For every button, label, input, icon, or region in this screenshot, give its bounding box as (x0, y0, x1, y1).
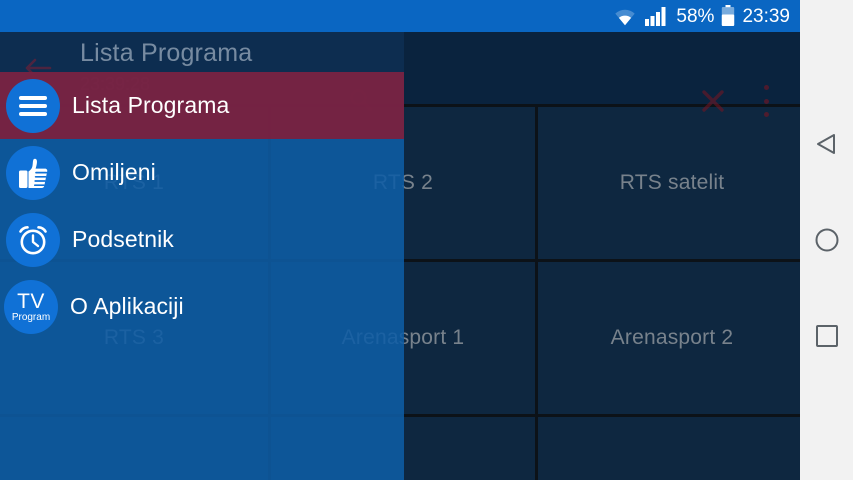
close-x-icon[interactable] (700, 88, 726, 114)
hamburger-menu-icon (6, 79, 60, 133)
nav-back-triangle-icon[interactable] (812, 129, 842, 159)
overflow-dot (764, 85, 769, 90)
wifi-icon (612, 6, 638, 26)
thumbs-up-icon (6, 146, 60, 200)
drawer-item-label: Lista Programa (72, 92, 229, 119)
drawer-item-omiljeni[interactable]: Omiljeni (0, 139, 404, 206)
tv-program-logo-icon: TV Program (4, 280, 58, 334)
drawer-item-label: Podsetnik (72, 226, 174, 253)
nav-home-circle-icon[interactable] (812, 225, 842, 255)
signal-bars-icon (645, 6, 669, 26)
drawer-item-lista-programa[interactable]: Lista Programa (0, 72, 404, 139)
tv-logo-line2: Program (12, 313, 50, 323)
android-nav-bar (800, 0, 853, 480)
overflow-dot (764, 112, 769, 117)
battery-icon (721, 5, 735, 27)
tv-logo-line1: TV (17, 291, 45, 312)
channel-tile[interactable]: Arenasport 2 (538, 262, 800, 414)
android-status-bar: 58% 23:39 (0, 0, 800, 32)
drawer-item-podsetnik[interactable]: Podsetnik (0, 206, 404, 273)
screenshot-root: 58% 23:39 RTS 1 RTS 2 RTS satelit RTS 3 … (0, 0, 853, 480)
channel-tile[interactable] (538, 417, 800, 480)
drawer-item-label: Omiljeni (72, 159, 156, 186)
channel-tile[interactable]: RTS satelit (538, 107, 800, 259)
status-bar-clock: 23:39 (742, 7, 790, 26)
page-title: Lista Programa (80, 39, 252, 68)
overflow-dot (764, 99, 769, 104)
app-content: RTS 1 RTS 2 RTS satelit RTS 3 Arenasport… (0, 32, 800, 480)
phone-viewport: 58% 23:39 RTS 1 RTS 2 RTS satelit RTS 3 … (0, 0, 800, 480)
navigation-drawer: Lista Programa Omiljeni (0, 72, 404, 480)
battery-percent-label: 58% (676, 7, 714, 26)
overflow-menu-icon[interactable] (758, 85, 774, 117)
alarm-clock-icon (6, 213, 60, 267)
drawer-item-o-aplikaciji[interactable]: TV Program O Aplikaciji (0, 273, 404, 340)
nav-recents-square-icon[interactable] (812, 321, 842, 351)
drawer-item-label: O Aplikaciji (70, 293, 184, 320)
